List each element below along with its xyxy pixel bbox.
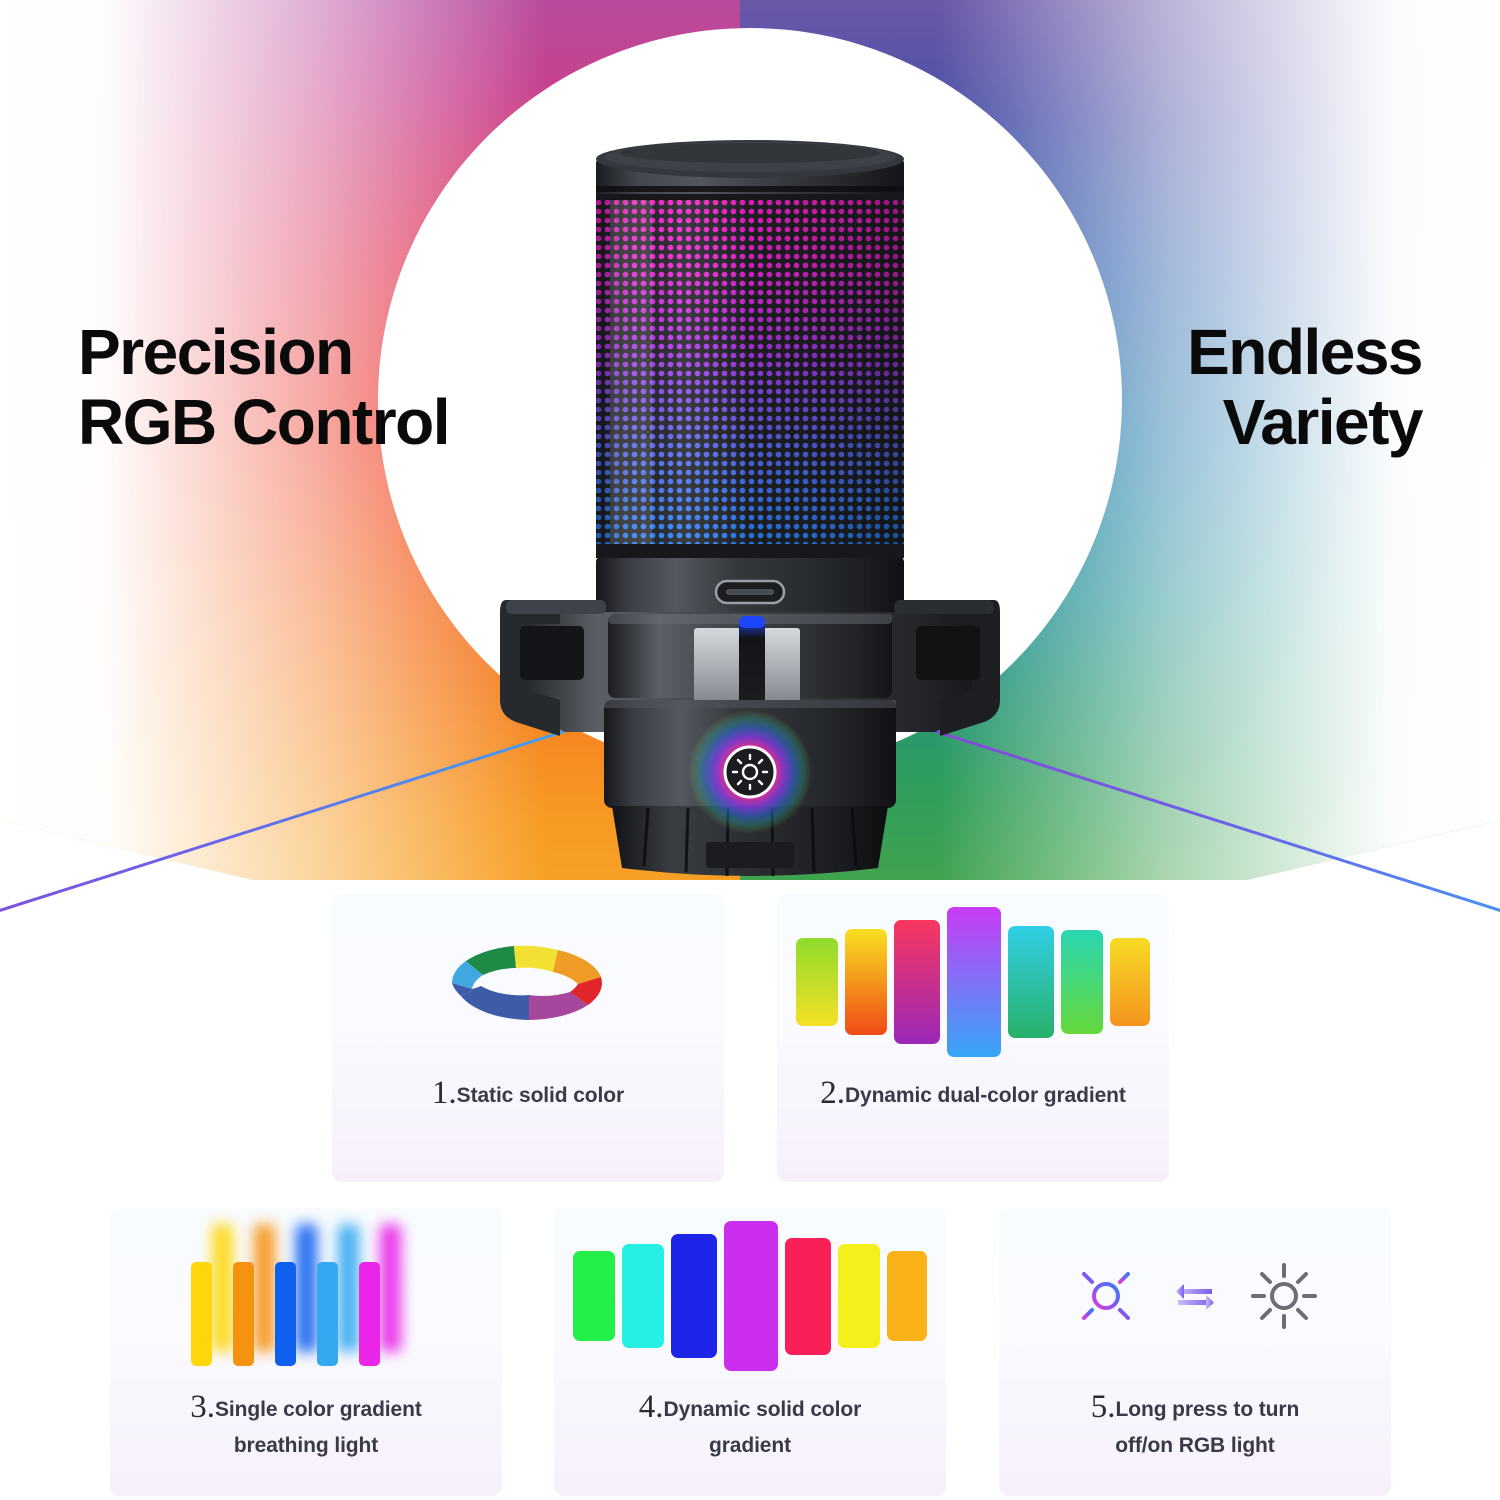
breathing-bars-icon [191,1226,421,1366]
breathing-bar-7 [317,1262,338,1366]
gradient-bar-6 [1061,930,1103,1034]
card3-number: 3. [190,1389,215,1425]
breathing-bar-4 [254,1224,275,1352]
card4-text: Dynamic solid color [664,1398,862,1421]
breathing-bar-9 [359,1262,380,1366]
breathing-bar-10 [380,1224,401,1352]
gradient-bar-2 [845,929,887,1035]
card2-label: 2.Dynamic dual-color gradient [804,1070,1142,1117]
gradient-bar-1 [796,938,838,1026]
solid-bar-1 [573,1251,615,1341]
card5-label: 5.Long press to turn off/on RGB light [1075,1384,1315,1461]
solid-bar-5 [785,1238,831,1355]
card2-visual [777,894,1169,1070]
card3-label: 3.Single color gradient breathing light [174,1384,438,1461]
solid-bar-3 [671,1234,717,1358]
sun-rgb-on-icon [1070,1260,1142,1332]
rgb-mode-card-grid: 1.Static solid color 2.Dynamic dual-colo… [0,0,1500,1500]
breathing-bar-5 [275,1262,296,1366]
card5-visual [999,1208,1391,1384]
card1-visual [332,894,724,1070]
gradient-bars-icon [796,912,1150,1052]
breathing-bar-2 [212,1224,233,1352]
card5-text-line2-strong: off/on [1115,1434,1173,1457]
card3-text: Single color gradient [215,1398,422,1421]
card1-label: 1.Static solid color [416,1070,640,1117]
breathing-bar-6 [296,1224,317,1352]
card5-text: Long press to turn [1116,1398,1300,1421]
card-dynamic-dual-color-gradient[interactable]: 2.Dynamic dual-color gradient [777,894,1169,1182]
card4-number: 4. [639,1389,664,1425]
gradient-bar-4 [947,907,1001,1057]
card-single-color-gradient-breathing-light[interactable]: 3.Single color gradient breathing light [110,1208,502,1496]
card5-text-line2: RGB light [1173,1434,1275,1457]
card3-text-line2: breathing light [234,1434,378,1457]
breathing-bar-3 [233,1262,254,1366]
card2-number: 2. [820,1075,845,1111]
sun-rgb-off-icon [1248,1260,1320,1332]
gradient-bar-7 [1110,938,1150,1026]
swap-arrows-icon [1172,1275,1218,1317]
card3-visual [110,1208,502,1384]
solid-bar-6 [838,1244,880,1348]
gradient-bar-5 [1008,926,1054,1038]
breathing-bar-1 [191,1262,212,1366]
card2-text: Dynamic dual-color gradient [845,1084,1126,1107]
solid-bar-4 [724,1221,778,1371]
card1-text: Static solid color [457,1084,624,1107]
card4-text-line2: gradient [709,1434,791,1457]
card4-label: 4.Dynamic solid color gradient [623,1384,877,1461]
gradient-bar-3 [894,920,940,1044]
color-ring-icon [428,923,628,1041]
card4-visual [554,1208,946,1384]
card1-number: 1. [432,1075,457,1111]
card-dynamic-solid-color-gradient[interactable]: 4.Dynamic solid color gradient [554,1208,946,1496]
card5-number: 5. [1091,1389,1116,1425]
solid-bar-7 [887,1251,927,1341]
solid-bar-2 [622,1244,664,1348]
card-long-press-rgb-toggle[interactable]: 5.Long press to turn off/on RGB light [999,1208,1391,1496]
solid-bars-icon [573,1226,927,1366]
breathing-bar-8 [338,1224,359,1352]
card-static-solid-color[interactable]: 1.Static solid color [332,894,724,1182]
